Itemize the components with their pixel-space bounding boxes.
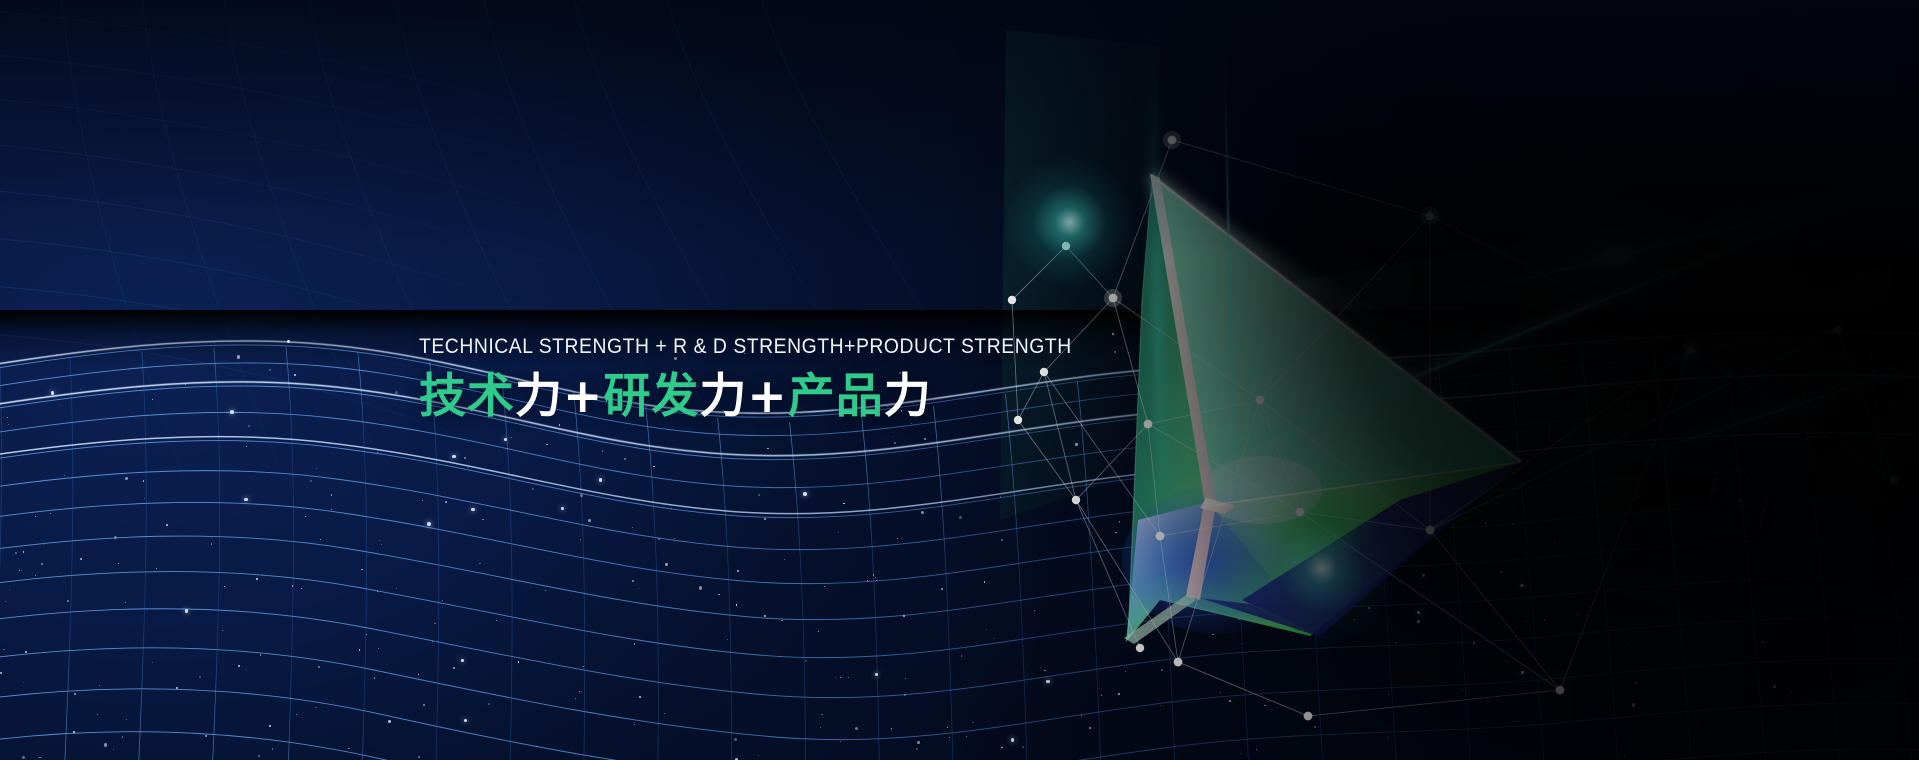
- title-part-2: 研发: [603, 369, 699, 424]
- headline-block: TECHNICAL STRENGTH + R & D STRENGTH+PROD…: [419, 336, 1039, 421]
- title-part-3: 力+: [699, 369, 787, 424]
- title-part-0: 技术: [419, 369, 515, 424]
- hero-banner: TECHNICAL STRENGTH + R & D STRENGTH+PROD…: [0, 0, 1919, 760]
- title-part-5: 力: [884, 369, 932, 424]
- title-part-4: 产品: [788, 369, 884, 424]
- headline-eyebrow: TECHNICAL STRENGTH + R & D STRENGTH+PROD…: [419, 336, 977, 358]
- title-part-1: 力+: [515, 369, 603, 424]
- headline-title: 技术力+研发力+产品力: [419, 372, 1039, 422]
